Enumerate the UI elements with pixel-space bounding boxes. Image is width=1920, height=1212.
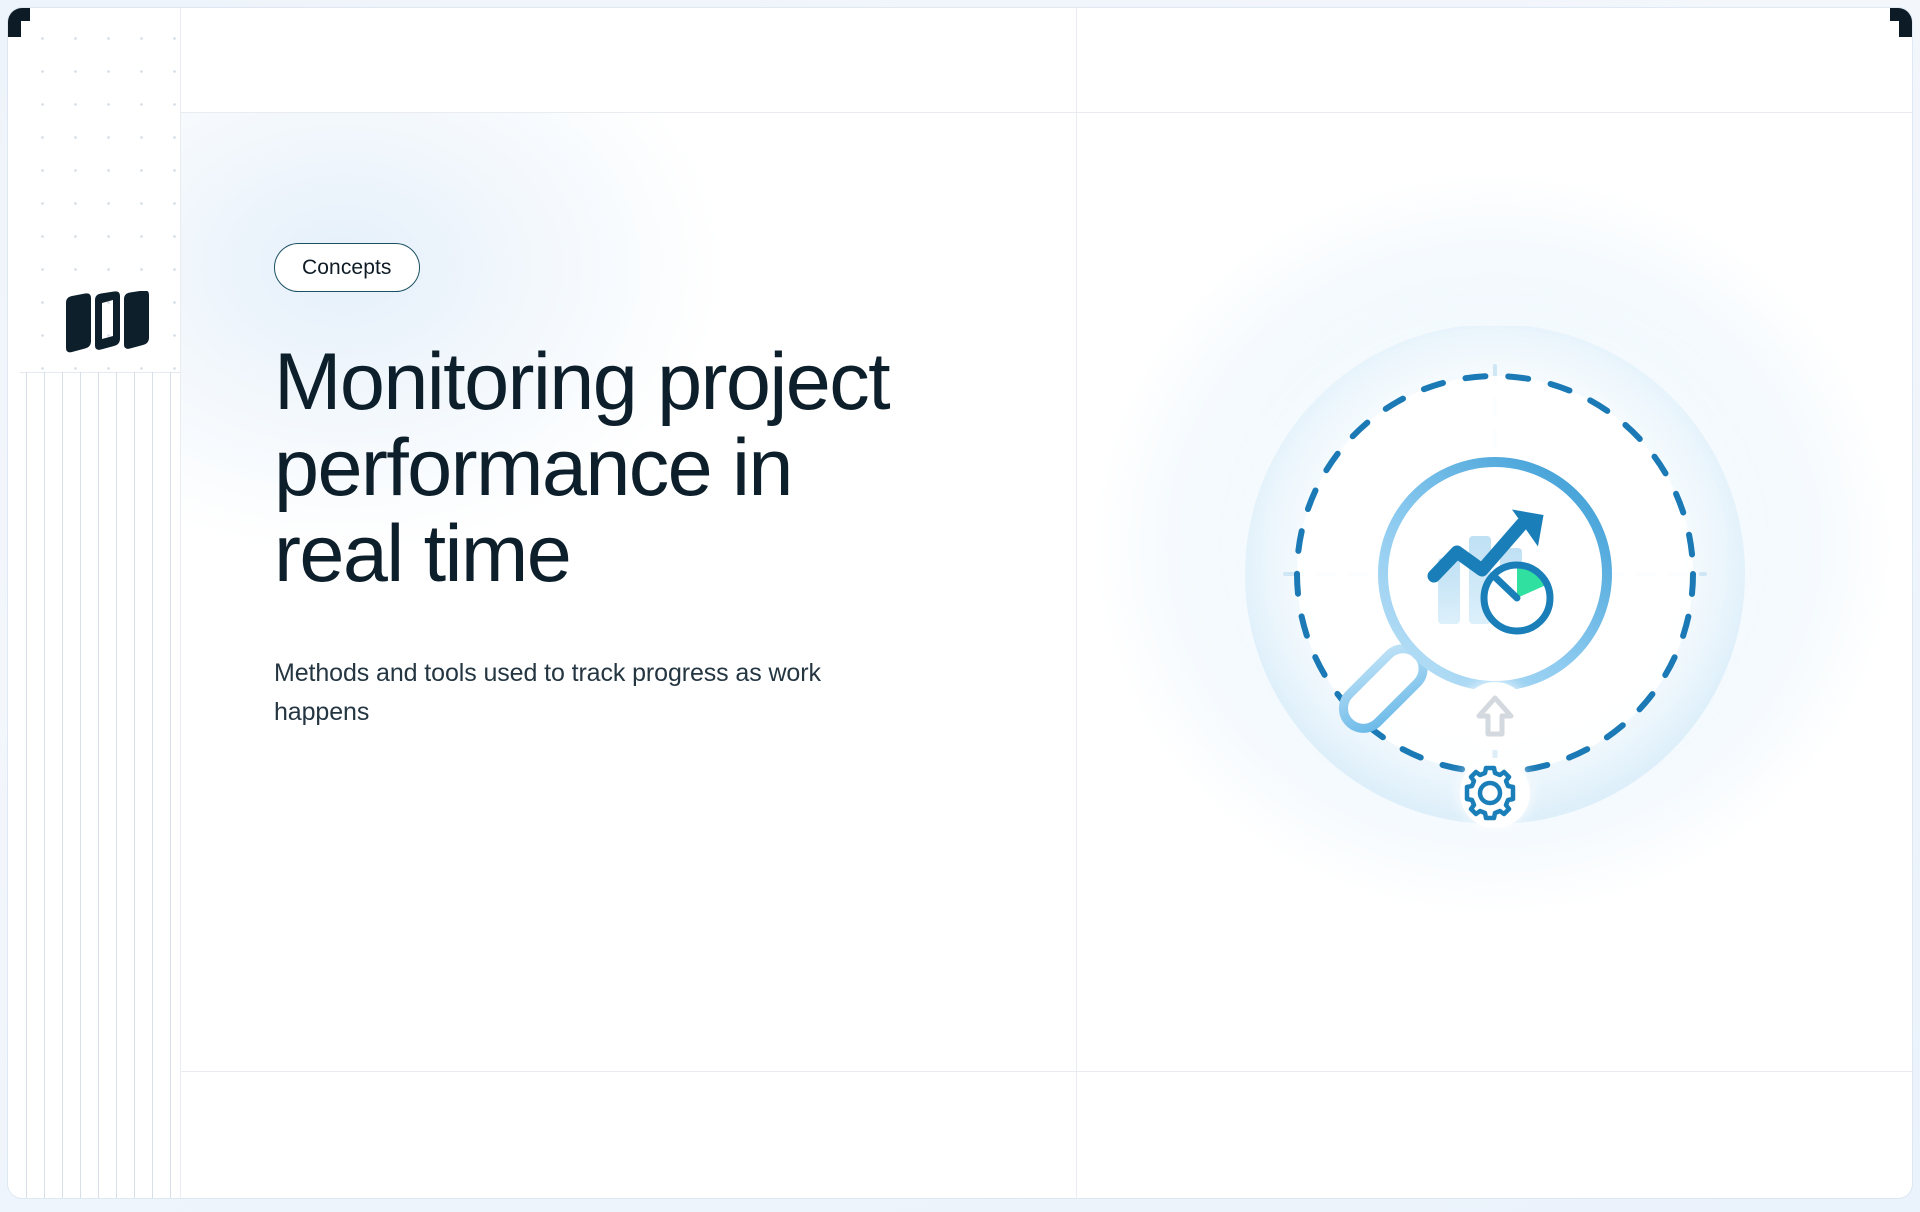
footer-strip xyxy=(180,1072,1912,1198)
decorative-left-rail xyxy=(8,8,180,1198)
corner-mark-top-right xyxy=(1882,8,1912,38)
performance-monitoring-illustration xyxy=(1245,326,1745,846)
arrow-up-badge xyxy=(1461,682,1529,750)
grid-rule-horizontal-bottom xyxy=(180,1071,1912,1072)
category-badge-concepts[interactable]: Concepts xyxy=(274,243,420,292)
slide-card: Concepts Monitoring project performance … xyxy=(8,8,1912,1198)
page-canvas: Concepts Monitoring project performance … xyxy=(0,0,1920,1212)
brand-logo xyxy=(58,291,162,359)
gear-badge xyxy=(1460,758,1530,828)
pie-progress-icon xyxy=(1484,565,1550,631)
page-subtitle: Methods and tools used to track progress… xyxy=(274,654,874,733)
hero-content: Concepts Monitoring project performance … xyxy=(181,113,1076,1071)
page-title: Monitoring project performance in real t… xyxy=(274,340,934,598)
vertical-stripe-pattern xyxy=(20,372,180,1198)
illustration-panel xyxy=(1077,113,1912,1071)
